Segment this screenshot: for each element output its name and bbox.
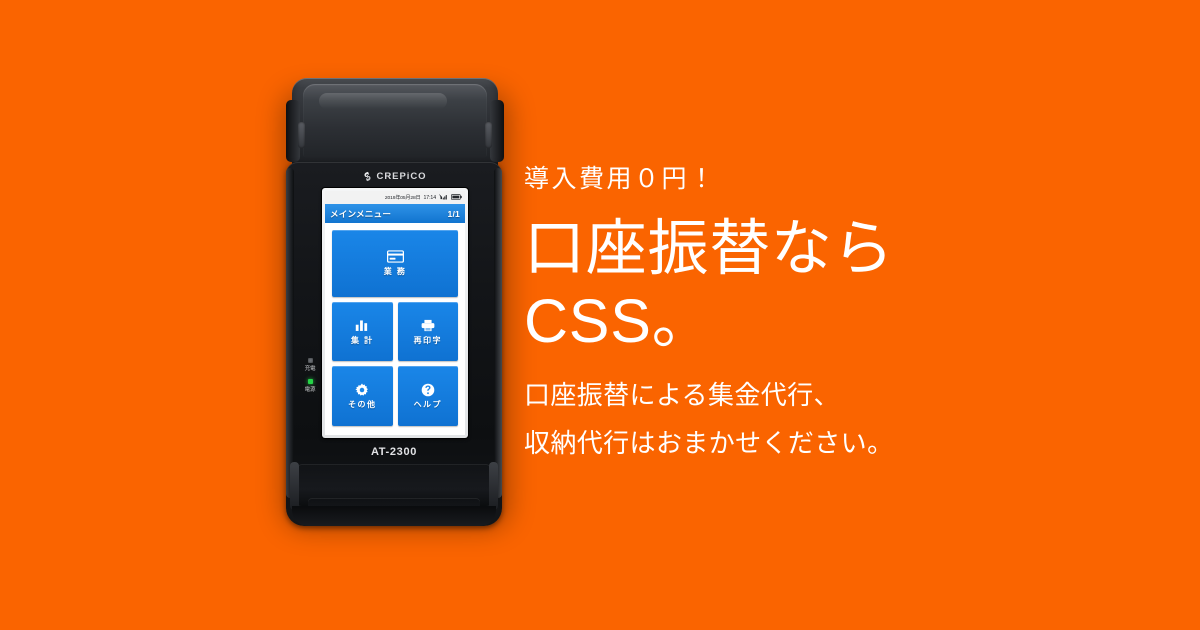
headline-line-1: 口座振替なら [524,212,1044,285]
printer-cover-highlight [319,93,447,109]
led-charge-label: 充電 [305,364,316,372]
power-led-icon [308,379,313,384]
printer-cover-latch-right[interactable] [485,122,492,148]
brand-logo: CREPiCO [286,168,502,184]
led-power: 電源 [305,379,316,393]
bar-chart-icon [355,318,369,333]
charge-led-icon [308,358,313,363]
marketing-copy: 導入費用０円！ 口座振替なら CSS。 口座振替による集金代行、 収納代行はおま… [524,164,1044,467]
subcopy-line-1: 口座振替による集金代行、 [524,372,1044,419]
printer-cover-side-right [490,100,504,162]
lcd-screen: 2019年05月28日 17:14 [325,191,465,435]
status-time: 17:14 [424,195,436,201]
promo-banner: CREPiCO 2019年05月28日 17:14 [0,0,1200,630]
menu-tile-saiinji[interactable]: 再印字 [398,302,459,362]
question-circle-icon [421,382,435,397]
menu-tile-help[interactable]: ヘルプ [398,366,459,426]
menu-tile-sonota[interactable]: その他 [332,366,393,426]
subcopy-line-2: 収納代行はおまかせください。 [524,420,1044,467]
led-power-label: 電源 [305,385,316,393]
device-rail-right [489,462,498,510]
printer-cover-latch-left[interactable] [298,122,305,148]
menu-tile-label: 再印字 [414,335,442,346]
device-body: CREPiCO 2019年05月28日 17:14 [286,162,502,526]
printer-cover-bevel [303,84,487,158]
device-rail-left [290,462,299,510]
led-indicator-group: 充電 電源 [300,358,320,393]
signal-bars-icon [439,193,448,202]
headline-line-2: CSS。 [524,285,1044,358]
menu-tile-shukei[interactable]: 集 計 [332,302,393,362]
device-foot [292,506,496,526]
main-menu-grid: 業 務 集 計 [325,223,465,435]
gear-icon [355,382,369,397]
subcopy-text: 口座振替による集金代行、 収納代行はおまかせください。 [524,372,1044,467]
brand-name: CREPiCO [377,171,427,182]
device-screen-bezel: 2019年05月28日 17:14 [322,188,468,438]
menu-tile-label: ヘルプ [414,399,442,410]
device-model-label: AT-2300 [286,446,502,458]
led-charge: 充電 [305,358,316,372]
screen-page-indicator: 1/1 [448,209,460,219]
screen-title-bar: メインメニュー 1/1 [325,204,465,223]
printer-cover [292,78,498,174]
eyebrow-text: 導入費用０円！ [524,164,1044,194]
main-menu-row-3: その他 ヘルプ [332,366,458,426]
screen-status-bar: 2019年05月28日 17:14 [325,191,465,204]
screen-title: メインメニュー [330,208,391,220]
credit-card-icon [387,249,404,264]
page-title: 口座振替なら CSS。 [524,212,1044,358]
swirl-logo-icon [362,171,373,182]
payment-terminal-device: CREPiCO 2019年05月28日 17:14 [278,78,510,526]
main-menu-row-2: 集 計 [332,302,458,362]
menu-tile-label: 業 務 [384,266,407,277]
printer-icon [421,318,435,333]
status-date: 2019年05月28日 [385,194,421,201]
menu-tile-gyomu[interactable]: 業 務 [332,230,458,297]
menu-tile-label: その他 [348,399,376,410]
menu-tile-label: 集 計 [351,335,374,346]
battery-full-icon [451,194,462,202]
